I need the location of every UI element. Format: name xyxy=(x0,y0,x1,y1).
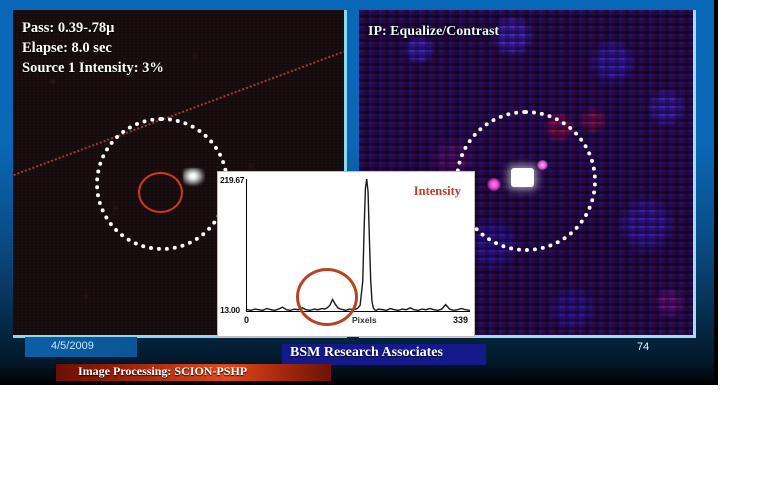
y-axis-min-tick: 13.00 xyxy=(220,305,240,315)
processed-bright-source-blob xyxy=(511,168,534,187)
presentation-slide: Pass: 0.39-.78μ Elapse: 8.0 sec Source 1… xyxy=(0,0,718,385)
intensity-profile-chart[interactable]: 219.67 13.00 Intensity 0 Pixels 339 xyxy=(217,171,475,337)
slide-right-edge xyxy=(714,0,718,385)
organization-name: BSM Research Associates xyxy=(290,345,443,361)
target-red-circle xyxy=(138,172,183,213)
bright-source-blob xyxy=(183,168,205,186)
page-root: Pass: 0.39-.78μ Elapse: 8.0 sec Source 1… xyxy=(0,0,768,480)
chart-annotation-red-circle xyxy=(296,268,358,326)
x-axis-label: Pixels xyxy=(352,315,377,325)
y-axis-max-tick: 219.67 xyxy=(220,175,244,185)
source-intensity-line: Source 1 Intensity: 3% xyxy=(22,58,164,78)
processed-panel-label: IP: Equalize/Contrast xyxy=(368,24,499,40)
acquisition-info-overlay: Pass: 0.39-.78μ Elapse: 8.0 sec Source 1… xyxy=(22,18,164,78)
slide-page-number: 74 xyxy=(637,341,649,353)
tertiary-magenta-blob xyxy=(537,160,548,170)
slide-bottom-edge xyxy=(0,381,718,385)
slide-date: 4/5/2009 xyxy=(51,340,94,352)
title-banner-text: Image Processing: SCION-PSHP xyxy=(78,364,247,379)
elapse-line: Elapse: 8.0 sec xyxy=(22,38,164,58)
chart-series-label: Intensity xyxy=(414,184,461,199)
x-axis-max-tick: 339 xyxy=(453,315,468,325)
x-axis-min-tick: 0 xyxy=(244,315,249,325)
pass-line: Pass: 0.39-.78μ xyxy=(22,18,164,38)
secondary-magenta-blob xyxy=(487,178,501,191)
